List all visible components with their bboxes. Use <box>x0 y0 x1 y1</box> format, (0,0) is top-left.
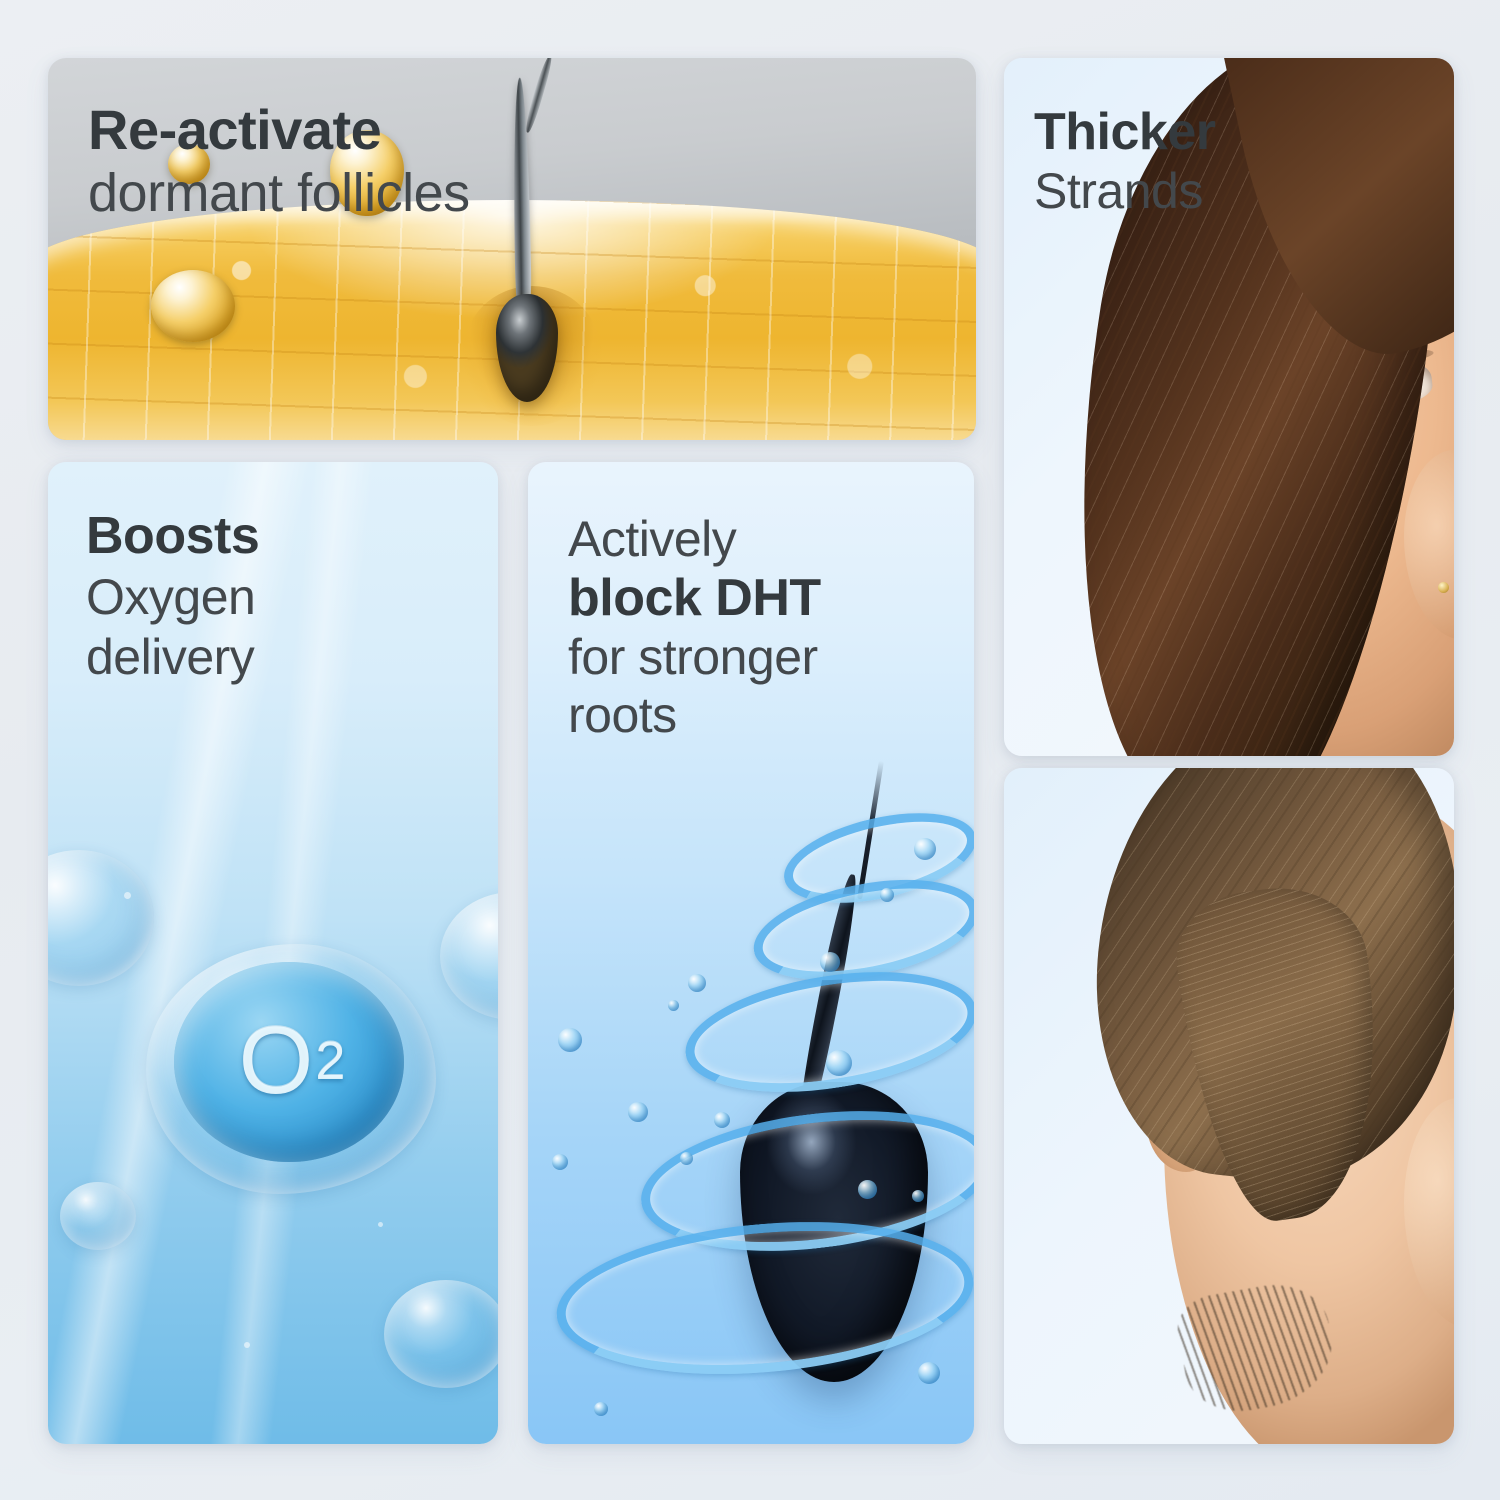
water-helix-ring-3 <box>677 954 974 1111</box>
bubble-bottom-right-icon <box>384 1280 498 1388</box>
panel-heading-dht: Actively block DHT for stronger roots <box>568 508 821 742</box>
water-droplet <box>918 1362 940 1384</box>
sparkle-dot <box>378 1222 383 1227</box>
water-droplet <box>820 952 840 972</box>
water-droplet <box>826 1050 852 1076</box>
water-droplet <box>914 838 936 860</box>
heading-line-light-1: Oxygen <box>86 570 259 624</box>
heading-line-bold: Thicker <box>1034 104 1215 160</box>
panel-block-dht: Actively block DHT for stronger roots <box>528 462 974 1444</box>
o2-letter: O <box>239 1006 316 1116</box>
heading-line-light-2: delivery <box>86 630 259 684</box>
water-droplet <box>880 888 894 902</box>
water-droplet <box>628 1102 648 1122</box>
panel-man-portrait <box>1004 768 1454 1444</box>
woman-nose-stud <box>1438 582 1449 593</box>
heading-line-light-2: for stronger <box>568 630 821 684</box>
panel-boosts-oxygen: O2 Boosts Oxygen delivery <box>48 462 498 1444</box>
water-droplet <box>680 1152 693 1165</box>
o2-subscript: 2 <box>315 1030 347 1092</box>
sparkle-dot <box>244 1342 250 1348</box>
heading-line-light-1: Actively <box>568 512 821 566</box>
panel-thicker-strands: Thicker Strands <box>1004 58 1454 756</box>
heading-line-bold: block DHT <box>568 570 821 626</box>
water-droplet <box>552 1154 568 1170</box>
panel-reactivate-follicles: Re-activate dormant follicles <box>48 58 976 440</box>
water-helix-ring-5 <box>550 1206 974 1390</box>
panel-heading-reactivate: Re-activate dormant follicles <box>88 100 470 223</box>
panel-heading-oxygen: Boosts Oxygen delivery <box>86 508 259 684</box>
water-droplet <box>912 1190 924 1202</box>
water-droplet <box>594 1402 608 1416</box>
water-droplet <box>688 974 706 992</box>
heading-line-light: Strands <box>1034 164 1215 218</box>
heading-line-light: dormant follicles <box>88 164 470 222</box>
hair-shaft-tip-icon <box>523 58 554 134</box>
heading-line-bold: Re-activate <box>88 100 470 160</box>
o2-molecule-icon: O2 <box>188 986 398 1136</box>
water-droplet <box>714 1112 730 1128</box>
water-droplet <box>668 1000 679 1011</box>
heading-line-bold: Boosts <box>86 508 259 564</box>
man-portrait-image <box>1004 768 1454 1444</box>
sparkle-dot <box>124 892 131 899</box>
infographic-stage: Re-activate dormant follicles Thicker St… <box>0 0 1500 1500</box>
bubble-small-icon <box>60 1182 136 1250</box>
heading-line-light-3: roots <box>568 688 821 742</box>
dht-follicle-graphic <box>528 762 974 1444</box>
oil-droplet-medium-icon <box>151 270 235 342</box>
panel-heading-thicker: Thicker Strands <box>1034 104 1215 218</box>
water-droplet <box>858 1180 877 1199</box>
water-droplet <box>558 1028 582 1052</box>
